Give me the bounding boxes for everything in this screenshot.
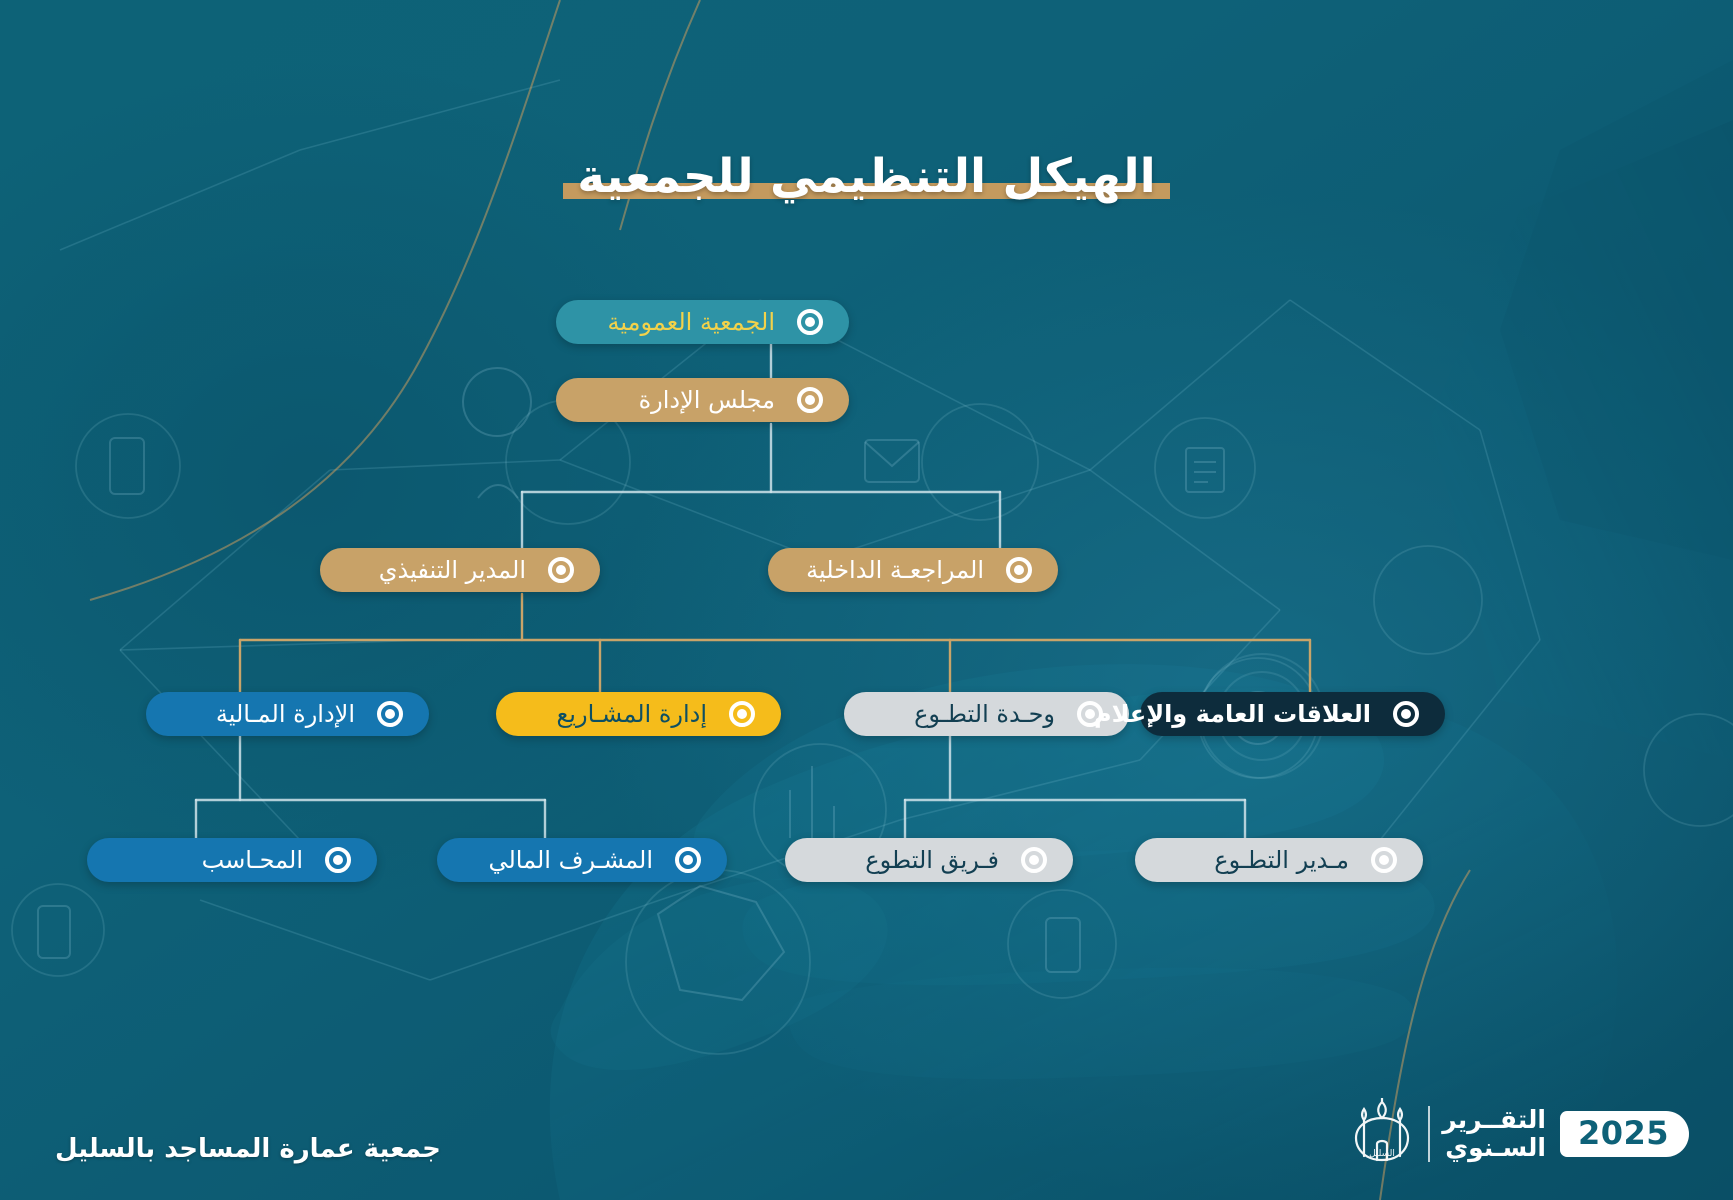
node-bullet-icon [671, 843, 705, 877]
org-node-volunteer-team[interactable]: فـريق التطوع [785, 838, 1073, 882]
org-node-general-assembly[interactable]: الجمعية العمومية [556, 300, 849, 344]
org-node-volunteer-unit[interactable]: وحـدة التطـوع [844, 692, 1129, 736]
node-bullet-icon [793, 305, 827, 339]
org-node-label: المحـاسب [202, 848, 311, 872]
org-node-public-relations[interactable]: العلاقات العامة والإعلام [1140, 692, 1445, 736]
org-node-label: إدارة المشـاريع [557, 702, 715, 726]
node-bullet-icon [544, 553, 578, 587]
node-bullet-icon [321, 843, 355, 877]
node-bullet-icon [1002, 553, 1036, 587]
org-node-executive-director[interactable]: المدير التنفيذي [320, 548, 600, 592]
node-bullet-icon [1367, 843, 1401, 877]
footer-report-line2: السـنوي [1442, 1134, 1546, 1162]
org-node-finance-dept[interactable]: الإدارة المـالية [146, 692, 429, 736]
footer-report-logo: 2025 التقــرير السـنوي السليل [1350, 1098, 1689, 1170]
org-node-label: الإدارة المـالية [216, 702, 363, 726]
footer-organization-name: جمعية عمارة المساجد بالسليل [55, 1134, 441, 1164]
footer-year-badge: 2025 [1560, 1111, 1689, 1157]
org-node-label: وحـدة التطـوع [914, 702, 1063, 726]
page-title: الهيكل التنظيمي للجمعية [0, 148, 1733, 207]
org-node-label: فـريق التطوع [865, 848, 1007, 872]
node-bullet-icon [793, 383, 827, 417]
org-node-label: المدير التنفيذي [379, 558, 534, 582]
org-node-accountant[interactable]: المحـاسب [87, 838, 377, 882]
org-node-label: المراجعـة الداخلية [806, 558, 992, 582]
org-node-volunteer-manager[interactable]: مـدير التطـوع [1135, 838, 1423, 882]
org-node-board[interactable]: مجلس الإدارة [556, 378, 849, 422]
org-node-label: مـدير التطـوع [1214, 848, 1357, 872]
org-node-label: العلاقات العامة والإعلام [1094, 702, 1379, 726]
footer-report-title: التقــرير السـنوي [1428, 1106, 1546, 1162]
org-node-label: مجلس الإدارة [639, 388, 783, 412]
title-text: الهيكل التنظيمي للجمعية [577, 148, 1156, 207]
svg-text:السليل: السليل [1369, 1149, 1395, 1159]
org-node-label: الجمعية العمومية [608, 310, 783, 334]
org-node-projects-dept[interactable]: إدارة المشـاريع [496, 692, 781, 736]
org-node-financial-officer[interactable]: المشـرف المالي [437, 838, 727, 882]
node-bullet-icon [1017, 843, 1051, 877]
footer-report-line1: التقــرير [1442, 1106, 1546, 1134]
node-bullet-icon [725, 697, 759, 731]
mosque-icon: السليل [1350, 1098, 1414, 1170]
node-bullet-icon [373, 697, 407, 731]
org-node-label: المشـرف المالي [488, 848, 661, 872]
org-node-internal-audit[interactable]: المراجعـة الداخلية [768, 548, 1058, 592]
slide-canvas: الهيكل التنظيمي للجمعية [0, 0, 1733, 1200]
node-bullet-icon [1389, 697, 1423, 731]
